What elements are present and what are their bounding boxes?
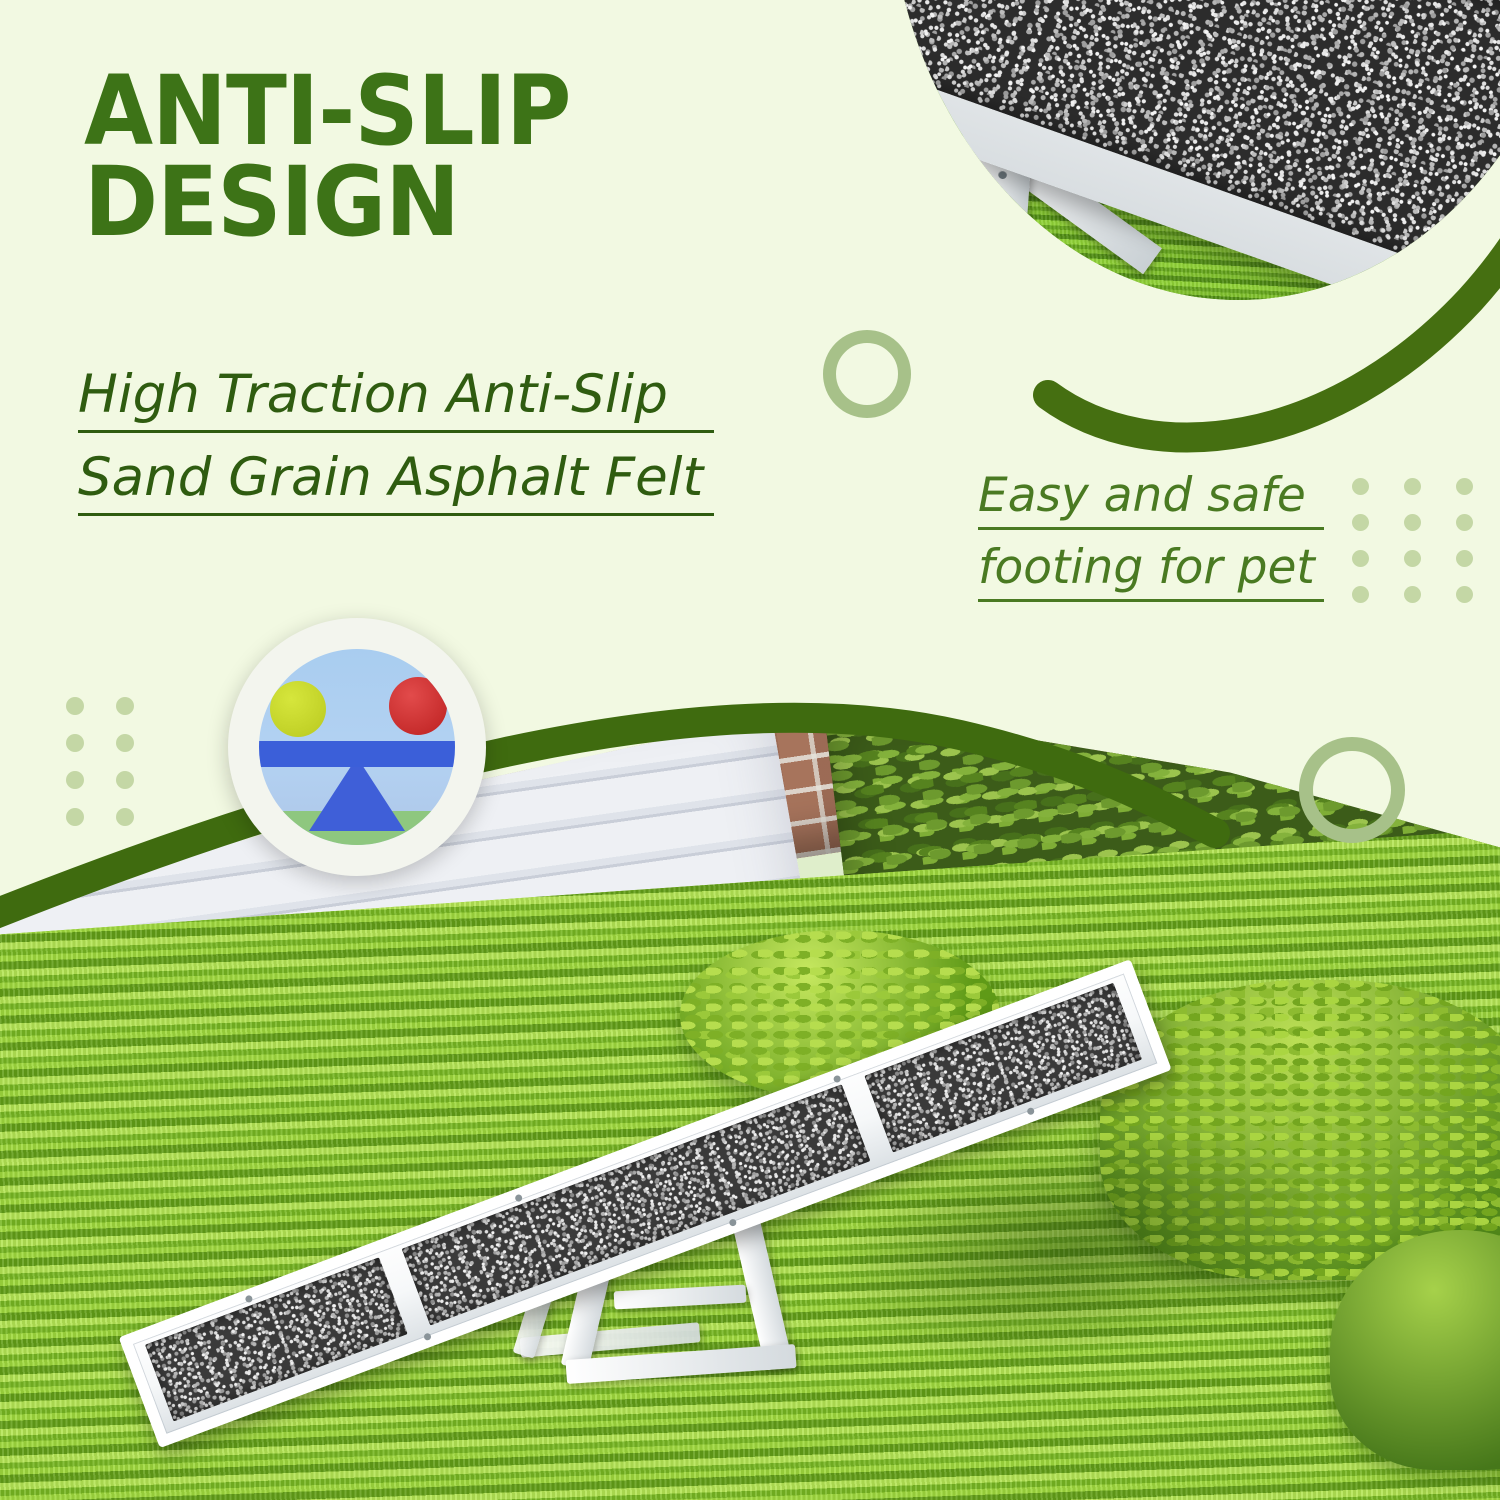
inset-screw — [990, 275, 1000, 285]
caption-right-block: Easy and safe footing for pet — [978, 472, 1348, 616]
inset-closeup-photo — [868, 0, 1500, 440]
subtitle-block: High Traction Anti-Slip Sand Grain Aspha… — [78, 368, 758, 534]
bush-left — [680, 930, 1000, 1100]
dot-grid-left — [66, 697, 166, 845]
poster-canvas: ANTI-SLIP DESIGN High Traction Anti-Slip… — [0, 0, 1500, 1500]
balance-badge — [228, 618, 486, 876]
balance-seesaw-icon — [259, 649, 455, 845]
dot-grid-right — [1352, 478, 1500, 622]
inset-screw — [998, 170, 1008, 180]
decorative-ring-right — [1299, 737, 1405, 843]
decorative-ring-middle — [823, 330, 911, 418]
icon-ball-yellow — [270, 681, 326, 737]
icon-ball-red — [389, 677, 447, 735]
icon-fulcrum — [309, 757, 405, 831]
caption-right-line-2: footing for pet — [978, 544, 1324, 602]
subtitle-line-1: High Traction Anti-Slip — [78, 368, 714, 433]
page-title: ANTI-SLIP DESIGN — [84, 66, 754, 248]
inset-plank — [868, 0, 1500, 375]
caption-right-line-1: Easy and safe — [978, 472, 1324, 530]
subtitle-line-2: Sand Grain Asphalt Felt — [78, 451, 714, 516]
icon-beam — [259, 741, 455, 767]
